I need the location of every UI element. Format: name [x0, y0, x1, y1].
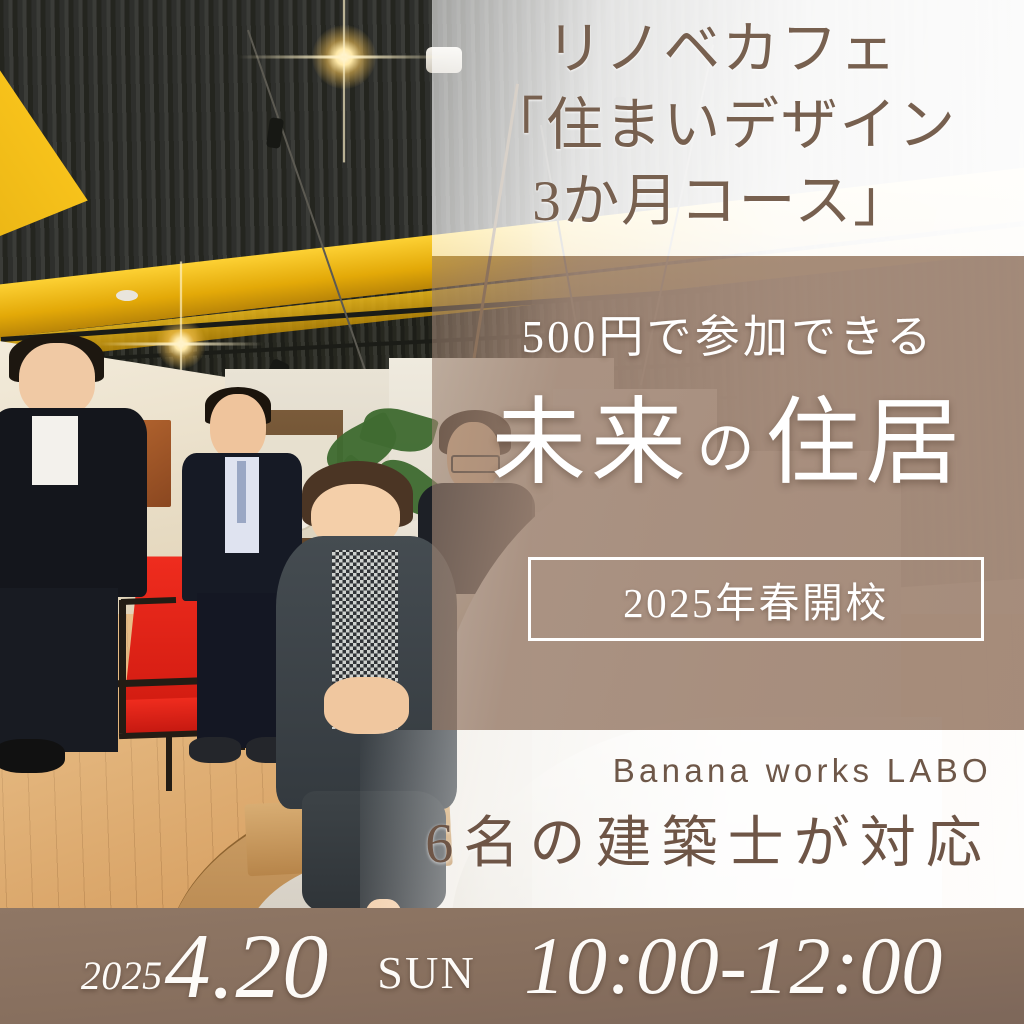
title-line-3: 3か月コース」 [432, 164, 1012, 240]
headline-right: 住居 [765, 390, 965, 496]
person-standing-left [0, 343, 154, 773]
date-time-bar: 2025 4.20 SUN 10:00-12:00 [0, 908, 1024, 1024]
headline-particle: の [691, 416, 766, 481]
lamp-flare [312, 25, 376, 89]
opening-badge-label: 2025年春開校 [623, 569, 889, 629]
headline-left: 未来 [491, 390, 691, 496]
title-line-1: リノベカフェ [432, 12, 1012, 88]
event-time: 10:00-12:00 [524, 919, 943, 1013]
chair-frame [166, 733, 172, 790]
staff-tagline: 6名の建築士が対応 [332, 798, 992, 879]
main-headline: 未来の住居 [432, 396, 1024, 491]
event-day-of-week: SUN [377, 946, 476, 999]
brand-name: Banana works LABO [432, 752, 992, 790]
title-line-2: 「住まいデザイン [432, 88, 1012, 164]
opening-badge: 2025年春開校 [528, 557, 984, 641]
event-year: 2025 [81, 952, 163, 999]
poster-canvas: リノベカフェ 「住まいデザイン 3か月コース」 500円で参加できる 未来の住居… [0, 0, 1024, 1024]
price-tagline: 500円で参加できる [432, 300, 1024, 365]
ceiling-puck-light [116, 290, 138, 301]
lamp-flare [156, 319, 206, 369]
poster-title: リノベカフェ 「住まいデザイン 3か月コース」 [432, 12, 1012, 239]
event-date: 4.20 [165, 913, 330, 1019]
